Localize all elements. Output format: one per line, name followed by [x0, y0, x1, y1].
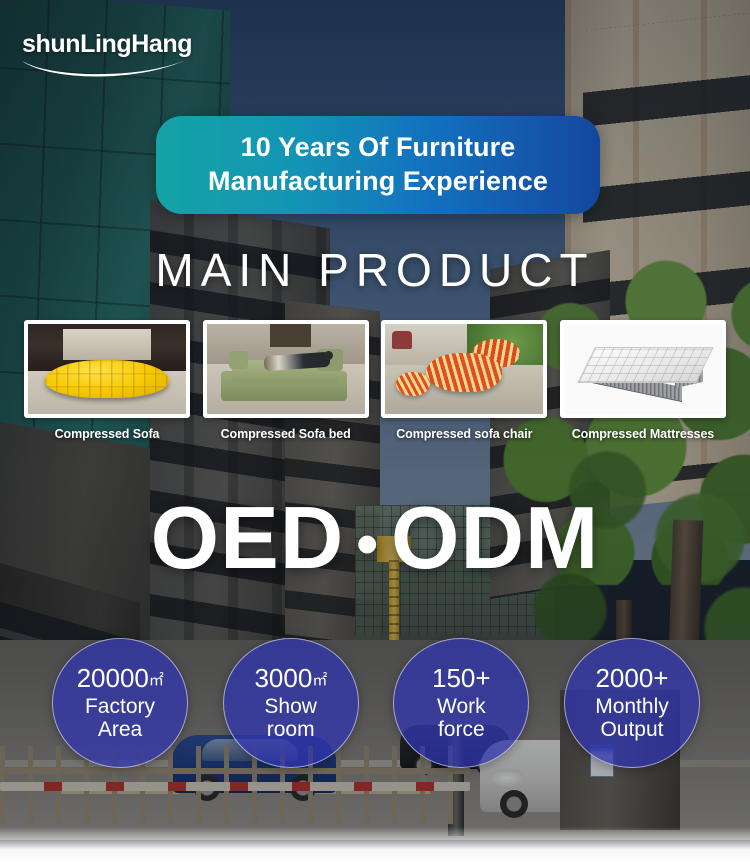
- grey-quilted-mattress-image: [564, 324, 722, 414]
- service-model-right: ODM: [391, 488, 599, 587]
- product-thumbnail[interactable]: [560, 320, 726, 418]
- company-logo[interactable]: shunLingHang: [22, 32, 207, 57]
- product-label: Compressed Sofa bed: [203, 427, 369, 441]
- stat-number: 150+: [432, 665, 491, 692]
- stat-label: Monthly Output: [595, 695, 669, 741]
- stat-label: Show room: [264, 695, 317, 741]
- logo-wordmark: shunLingHang: [22, 32, 207, 57]
- product-label: Compressed sofa chair: [381, 427, 547, 441]
- service-model-title: OED•ODM: [0, 494, 750, 582]
- swoosh-arc-icon: [20, 57, 192, 83]
- page-title: MAIN PRODUCT: [0, 243, 750, 297]
- product-thumbnail[interactable]: [381, 320, 547, 418]
- stat-unit: ㎡: [149, 672, 164, 689]
- product-thumbnail[interactable]: [203, 320, 369, 418]
- green-sofa-bed-image: [207, 324, 365, 414]
- headline-line-2: Manufacturing Experience: [174, 164, 582, 198]
- stat-number: 3000㎡: [254, 665, 326, 692]
- service-model-left: OED: [151, 488, 345, 587]
- stat-number: 2000+: [595, 665, 668, 692]
- stat-workforce: 150+ Work force: [393, 638, 529, 768]
- product-card-compressed-sofa-chair[interactable]: Compressed sofa chair: [381, 320, 547, 441]
- separator-dot-icon: •: [344, 510, 391, 579]
- product-list: Compressed Sofa Compressed Sofa bed: [24, 320, 726, 441]
- bottom-fade: [0, 827, 750, 863]
- stat-label: Factory Area: [85, 695, 155, 741]
- stat-showroom: 3000㎡ Show room: [223, 638, 359, 768]
- stat-label: Work force: [437, 695, 486, 741]
- product-card-compressed-sofa[interactable]: Compressed Sofa: [24, 320, 190, 441]
- headline-banner: 10 Years Of Furniture Manufacturing Expe…: [156, 116, 600, 214]
- orange-striped-sofa-chair-image: [385, 324, 543, 414]
- product-card-compressed-sofa-bed[interactable]: Compressed Sofa bed: [203, 320, 369, 441]
- stats-row: 20000㎡ Factory Area 3000㎡ Show room 150+…: [52, 638, 700, 768]
- promo-banner: shunLingHang 10 Years Of Furniture Manuf…: [0, 0, 750, 863]
- stat-unit: ㎡: [312, 672, 327, 689]
- product-thumbnail[interactable]: [24, 320, 190, 418]
- product-card-compressed-mattresses[interactable]: Compressed Mattresses: [560, 320, 726, 441]
- stat-number: 20000㎡: [77, 665, 164, 692]
- product-label: Compressed Sofa: [24, 427, 190, 441]
- product-label: Compressed Mattresses: [560, 427, 726, 441]
- headline-line-1: 10 Years Of Furniture: [174, 130, 582, 164]
- yellow-bubble-sofa-image: [28, 324, 186, 414]
- stat-factory-area: 20000㎡ Factory Area: [52, 638, 188, 768]
- stat-monthly-output: 2000+ Monthly Output: [564, 638, 700, 768]
